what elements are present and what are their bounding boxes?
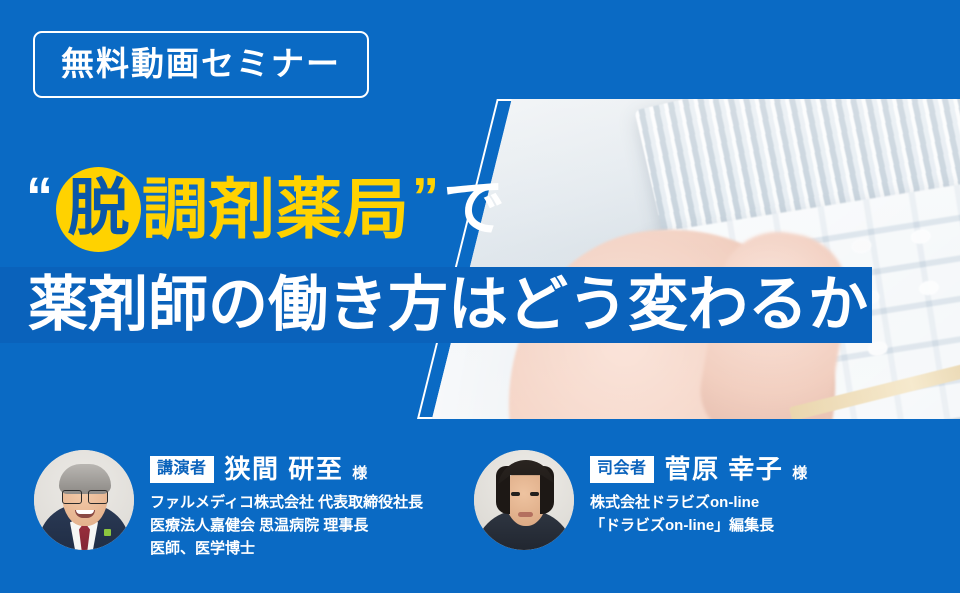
- speaker-credentials: ファルメディコ株式会社 代表取締役社長 医療法人嘉健会 思温病院 理事長 医師、…: [150, 492, 423, 560]
- speaker-name: 狭間 研至: [225, 456, 344, 482]
- seminar-banner: 無料動画セミナー “ 脱 調剤薬局 ” で 薬剤師の働き方はどう変わるか: [0, 0, 960, 593]
- moderator-role-badge: 司会者: [590, 456, 654, 483]
- seminar-type-label: 無料動画セミナー: [61, 47, 341, 80]
- photo-panel: [432, 99, 960, 419]
- speaker-credential-line: 医師、医学博士: [150, 538, 423, 561]
- avatar-speaker: [34, 450, 134, 550]
- speaker-credential-line: 医療法人嘉健会 思温病院 理事長: [150, 515, 423, 538]
- headline-circle-character: 脱: [56, 167, 141, 252]
- moderator-honorific: 様: [792, 466, 807, 481]
- speaker-role-badge: 講演者: [150, 456, 214, 483]
- speaker-name-row: 講演者 狭間 研至 様: [150, 456, 423, 483]
- headline-suffix: で: [443, 178, 505, 240]
- photo-image: [432, 99, 960, 419]
- moderator-name-row: 司会者 菅原 幸子 様: [590, 456, 807, 483]
- headline-line-2-banner: 薬剤師の働き方はどう変わるか: [0, 267, 872, 343]
- presenter-speaker: 講演者 狭間 研至 様 ファルメディコ株式会社 代表取締役社長 医療法人嘉健会 …: [34, 450, 423, 560]
- avatar-moderator-art: [474, 450, 574, 550]
- photo-overlay-haze: [432, 99, 960, 419]
- quote-close-mark: ”: [412, 170, 439, 224]
- headline-line-2-text: 薬剤師の働き方はどう変わるか: [28, 275, 868, 335]
- headline-emphasis-text: 調剤薬局: [142, 176, 410, 242]
- glasses-icon: [62, 490, 108, 503]
- speaker-info: 講演者 狭間 研至 様 ファルメディコ株式会社 代表取締役社長 医療法人嘉健会 …: [150, 450, 423, 560]
- moderator-credential-line: 株式会社ドラビズon-line: [590, 492, 807, 515]
- avatar-moderator: [474, 450, 574, 550]
- seminar-type-badge: 無料動画セミナー: [33, 31, 369, 98]
- moderator-credentials: 株式会社ドラビズon-line 「ドラビズon-line」編集長: [590, 492, 807, 538]
- presenters-row: 講演者 狭間 研至 様 ファルメディコ株式会社 代表取締役社長 医療法人嘉健会 …: [0, 440, 960, 593]
- quote-open-mark: “: [26, 170, 53, 224]
- moderator-info: 司会者 菅原 幸子 様 株式会社ドラビズon-line 「ドラビズon-line…: [590, 450, 807, 538]
- headline-line-1: “ 脱 調剤薬局 ” で: [26, 163, 505, 255]
- speaker-credential-line: ファルメディコ株式会社 代表取締役社長: [150, 492, 423, 515]
- speaker-honorific: 様: [352, 466, 367, 481]
- moderator-name: 菅原 幸子: [665, 456, 784, 482]
- moderator-credential-line: 「ドラビズon-line」編集長: [590, 515, 807, 538]
- presenter-moderator: 司会者 菅原 幸子 様 株式会社ドラビズon-line 「ドラビズon-line…: [474, 450, 807, 550]
- avatar-speaker-art: [34, 450, 134, 550]
